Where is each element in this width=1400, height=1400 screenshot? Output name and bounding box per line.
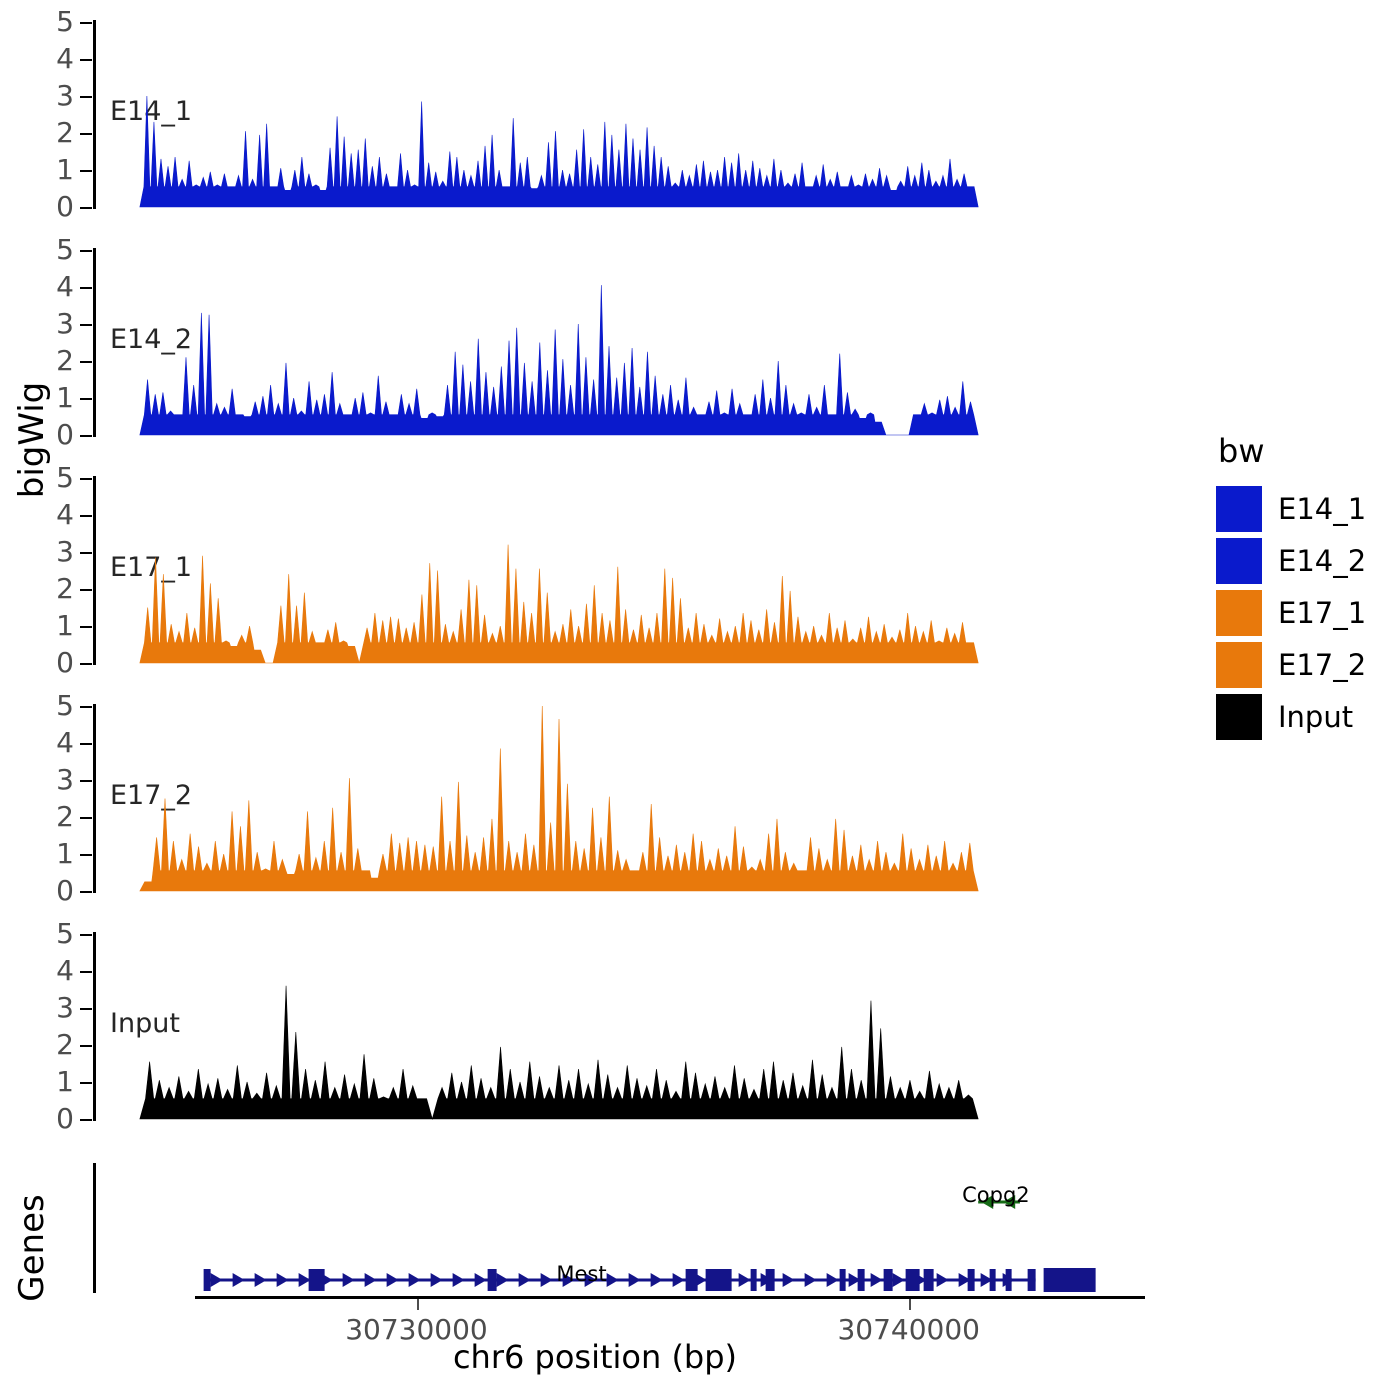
legend-swatch-e17_1 xyxy=(1216,590,1262,636)
track-panel-e17_2: 543210E17_2 xyxy=(0,694,1140,903)
y-tick-label: 0 xyxy=(14,649,74,677)
legend-items: E14_1E14_2E17_1E17_2Input xyxy=(1216,484,1396,742)
y-tick xyxy=(80,478,92,480)
y-tick-label: 3 xyxy=(14,310,74,338)
legend-swatch-input xyxy=(1216,694,1262,740)
genes-track-area xyxy=(96,1155,1140,1315)
track-panel-input: 543210Input xyxy=(0,922,1140,1131)
y-tick xyxy=(80,552,92,554)
y-tick-label: 2 xyxy=(14,575,74,603)
y-tick xyxy=(80,515,92,517)
y-tick-label: 5 xyxy=(14,8,74,36)
y-tick xyxy=(80,398,92,400)
coverage-track-e17_1 xyxy=(96,478,1140,665)
legend-label-e17_2: E17_2 xyxy=(1278,648,1366,682)
y-tick-label: 0 xyxy=(14,877,74,905)
y-tick xyxy=(80,170,92,172)
y-tick xyxy=(80,780,92,782)
y-tick-label: 4 xyxy=(14,729,74,757)
coverage-track-e17_2 xyxy=(96,706,1140,893)
y-tick xyxy=(80,626,92,628)
y-tick-label: 4 xyxy=(14,273,74,301)
y-tick-label: 4 xyxy=(14,501,74,529)
y-tick-label: 5 xyxy=(14,920,74,948)
legend-label-e14_1: E14_1 xyxy=(1278,492,1366,526)
y-tick xyxy=(80,287,92,289)
y-tick-label: 1 xyxy=(14,612,74,640)
legend-item-input[interactable]: Input xyxy=(1216,692,1396,742)
legend-item-e17_1[interactable]: E17_1 xyxy=(1216,588,1396,638)
x-tick xyxy=(417,1299,419,1310)
y-tick-label: 4 xyxy=(14,45,74,73)
genes-panel xyxy=(0,1155,1140,1315)
y-tick xyxy=(80,324,92,326)
y-tick-label: 1 xyxy=(14,840,74,868)
coverage-track-input xyxy=(96,934,1140,1121)
x-axis-line xyxy=(195,1296,1145,1299)
x-tick xyxy=(909,1299,911,1310)
legend-swatch-e17_2 xyxy=(1216,642,1262,688)
y-tick xyxy=(80,207,92,209)
y-tick-label: 3 xyxy=(14,994,74,1022)
legend-title: bw xyxy=(1218,432,1396,470)
y-tick xyxy=(80,891,92,893)
y-tick-label: 5 xyxy=(14,464,74,492)
y-tick-label: 3 xyxy=(14,82,74,110)
track-panel-e14_2: 543210E14_2 xyxy=(0,238,1140,447)
y-tick-label: 2 xyxy=(14,119,74,147)
y-tick xyxy=(80,1045,92,1047)
y-tick xyxy=(80,971,92,973)
y-tick-label: 1 xyxy=(14,384,74,412)
legend-item-e14_1[interactable]: E14_1 xyxy=(1216,484,1396,534)
legend-swatch-e14_1 xyxy=(1216,486,1262,532)
legend-label-e14_2: E14_2 xyxy=(1278,544,1366,578)
y-tick-label: 1 xyxy=(14,1068,74,1096)
y-tick xyxy=(80,934,92,936)
y-tick-label: 0 xyxy=(14,421,74,449)
y-tick xyxy=(80,817,92,819)
y-tick-label: 2 xyxy=(14,803,74,831)
legend-label-input: Input xyxy=(1278,700,1353,734)
y-tick-label: 3 xyxy=(14,766,74,794)
legend-item-e17_2[interactable]: E17_2 xyxy=(1216,640,1396,690)
y-tick xyxy=(80,854,92,856)
y-tick-label: 3 xyxy=(14,538,74,566)
y-tick xyxy=(80,59,92,61)
y-tick xyxy=(80,1008,92,1010)
coverage-track-e14_2 xyxy=(96,250,1140,437)
y-tick-label: 2 xyxy=(14,1031,74,1059)
legend-item-e14_2[interactable]: E14_2 xyxy=(1216,536,1396,586)
y-tick xyxy=(80,133,92,135)
x-tick-label: 30730000 xyxy=(307,1313,527,1346)
y-tick-label: 5 xyxy=(14,692,74,720)
y-tick xyxy=(80,1119,92,1121)
gene-label-copg2: Copg2 xyxy=(876,1183,1116,1207)
y-tick xyxy=(80,22,92,24)
track-panel-e17_1: 543210E17_1 xyxy=(0,466,1140,675)
y-tick-label: 5 xyxy=(14,236,74,264)
legend: bw E14_1E14_2E17_1E17_2Input xyxy=(1216,432,1396,744)
y-tick xyxy=(80,663,92,665)
x-tick-label: 30740000 xyxy=(799,1313,1019,1346)
y-tick-label: 1 xyxy=(14,156,74,184)
gene-label-mest: Mest xyxy=(461,1262,701,1286)
y-tick xyxy=(80,250,92,252)
track-panel-e14_1: 543210E14_1 xyxy=(0,10,1140,219)
y-tick xyxy=(80,589,92,591)
y-tick xyxy=(80,435,92,437)
y-tick-label: 2 xyxy=(14,347,74,375)
coverage-track-e14_1 xyxy=(96,22,1140,209)
y-tick-label: 4 xyxy=(14,957,74,985)
figure-root: bigWig Genes chr6 position (bp) 543210E1… xyxy=(0,0,1400,1400)
y-tick xyxy=(80,1082,92,1084)
y-tick-label: 0 xyxy=(14,1105,74,1133)
y-tick xyxy=(80,743,92,745)
y-tick xyxy=(80,706,92,708)
legend-label-e17_1: E17_1 xyxy=(1278,596,1366,630)
legend-swatch-e14_2 xyxy=(1216,538,1262,584)
y-tick-label: 0 xyxy=(14,193,74,221)
y-tick xyxy=(80,96,92,98)
y-tick xyxy=(80,361,92,363)
